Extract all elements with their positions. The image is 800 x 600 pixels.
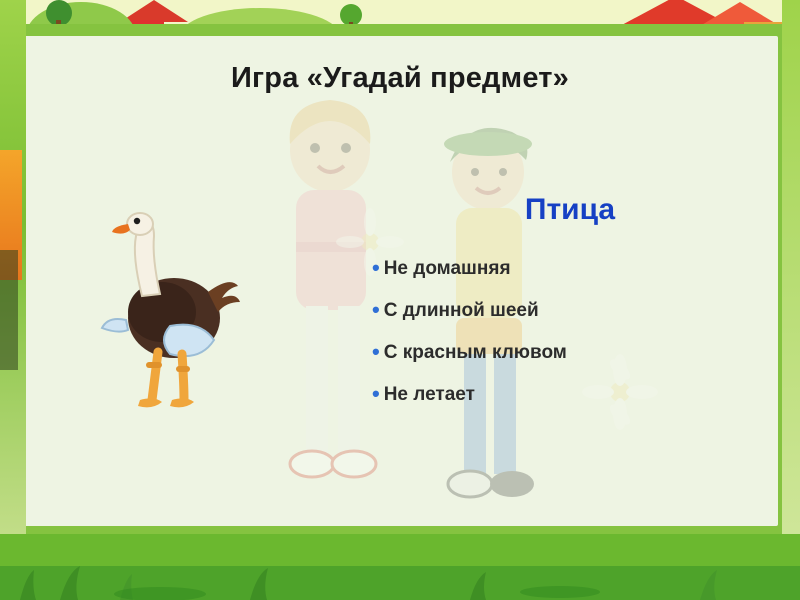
bullet-marker-icon: • [372,342,380,361]
page-title: Игра «Угадай предмет» [0,62,800,95]
answer-word: Птица [380,193,760,227]
bullet-marker-icon: • [372,300,380,319]
list-item: • Не летает [372,384,772,406]
list-item: • С красным клювом [372,342,772,364]
list-item-label: Не домашняя [384,258,511,280]
background-left-dark-accent [0,250,18,370]
list-item-label: Не летает [384,384,475,406]
house-roof-icon [120,0,188,22]
clue-list: • Не домашняя • С длинной шеей • С красн… [372,258,772,426]
bullet-marker-icon: • [372,384,380,403]
list-item-label: С красным клювом [384,342,567,364]
ostrich-illustration [96,200,246,430]
slide-canvas: Игра «Угадай предмет» Птица • Не домашня… [0,0,800,600]
list-item-label: С длинной шеей [384,300,539,322]
list-item: • С длинной шеей [372,300,772,322]
list-item: • Не домашняя [372,258,772,280]
bullet-marker-icon: • [372,258,380,277]
